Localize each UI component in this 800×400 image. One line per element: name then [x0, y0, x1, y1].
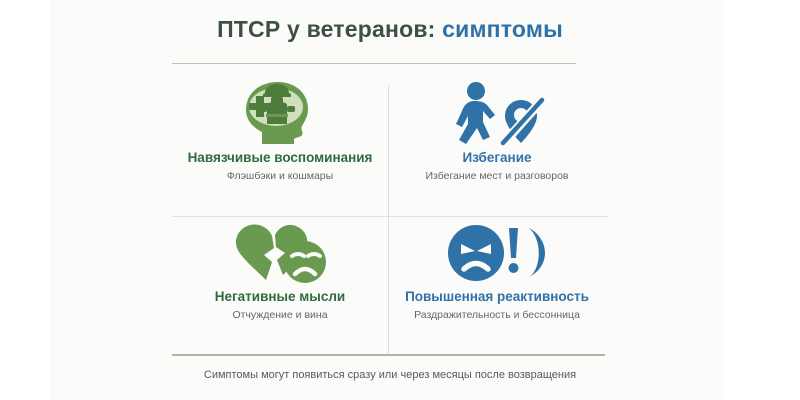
- heart-left-half: [236, 224, 274, 280]
- walking-person-icon: [456, 82, 495, 144]
- sad-face-icon: [284, 241, 326, 283]
- page-title-accent: симптомы: [442, 16, 563, 42]
- symptom-card-hyperarousal[interactable]: Повышенная реактивность Раздражительност…: [389, 217, 605, 356]
- walking-person-no-location-icon: [445, 80, 549, 146]
- symptom-card-intrusive-memories[interactable]: Навязчивые воспоминания Флэшбэки и кошма…: [172, 76, 388, 215]
- crescent-moon-icon: [529, 228, 545, 277]
- symptom-heading: Негативные мысли: [172, 289, 388, 304]
- icon-slot: [389, 217, 605, 289]
- footer-divider: [172, 354, 605, 356]
- angry-face-exclamation-moon-icon: [445, 222, 549, 284]
- icon-slot: [172, 76, 388, 150]
- head-with-soldier-thought-icon: [232, 80, 328, 146]
- symptom-subtitle: Раздражительность и бессонница: [389, 309, 605, 322]
- left-eye: [292, 254, 304, 256]
- broken-heart-sad-face-icon: [228, 222, 332, 284]
- symptom-heading: Навязчивые воспоминания: [172, 150, 388, 165]
- symptom-grid: Навязчивые воспоминания Флэшбэки и кошма…: [172, 76, 608, 354]
- slide-content: ПТСР у ветеранов: симптомы: [172, 0, 608, 400]
- title-divider: [172, 63, 576, 64]
- symptom-subtitle: Флэшбэки и кошмары: [172, 170, 388, 183]
- symptom-heading: Избегание: [389, 150, 605, 165]
- symptom-subtitle: Избегание мест и разговоров: [389, 170, 605, 183]
- symptom-subtitle: Отчуждение и вина: [172, 309, 388, 322]
- location-pin-blocked-icon: [503, 99, 543, 144]
- symptom-heading: Повышенная реактивность: [389, 289, 605, 304]
- exclamation-mark-icon: [509, 228, 519, 273]
- infographic-slide: ПТСР у ветеранов: симптомы: [0, 0, 800, 400]
- symptom-card-avoidance[interactable]: Избегание Избегание мест и разговоров: [389, 76, 605, 215]
- angry-face-icon: [448, 225, 504, 281]
- page-title-main: ПТСР у ветеранов:: [217, 16, 435, 42]
- icon-slot: [172, 217, 388, 289]
- symptom-card-negative-thoughts[interactable]: Негативные мысли Отчуждение и вина: [172, 217, 388, 356]
- footer-note: Симптомы могут появиться сразу или через…: [172, 369, 608, 381]
- page-title: ПТСР у ветеранов: симптомы: [172, 16, 608, 43]
- icon-slot: [389, 76, 605, 150]
- right-eye: [308, 254, 320, 256]
